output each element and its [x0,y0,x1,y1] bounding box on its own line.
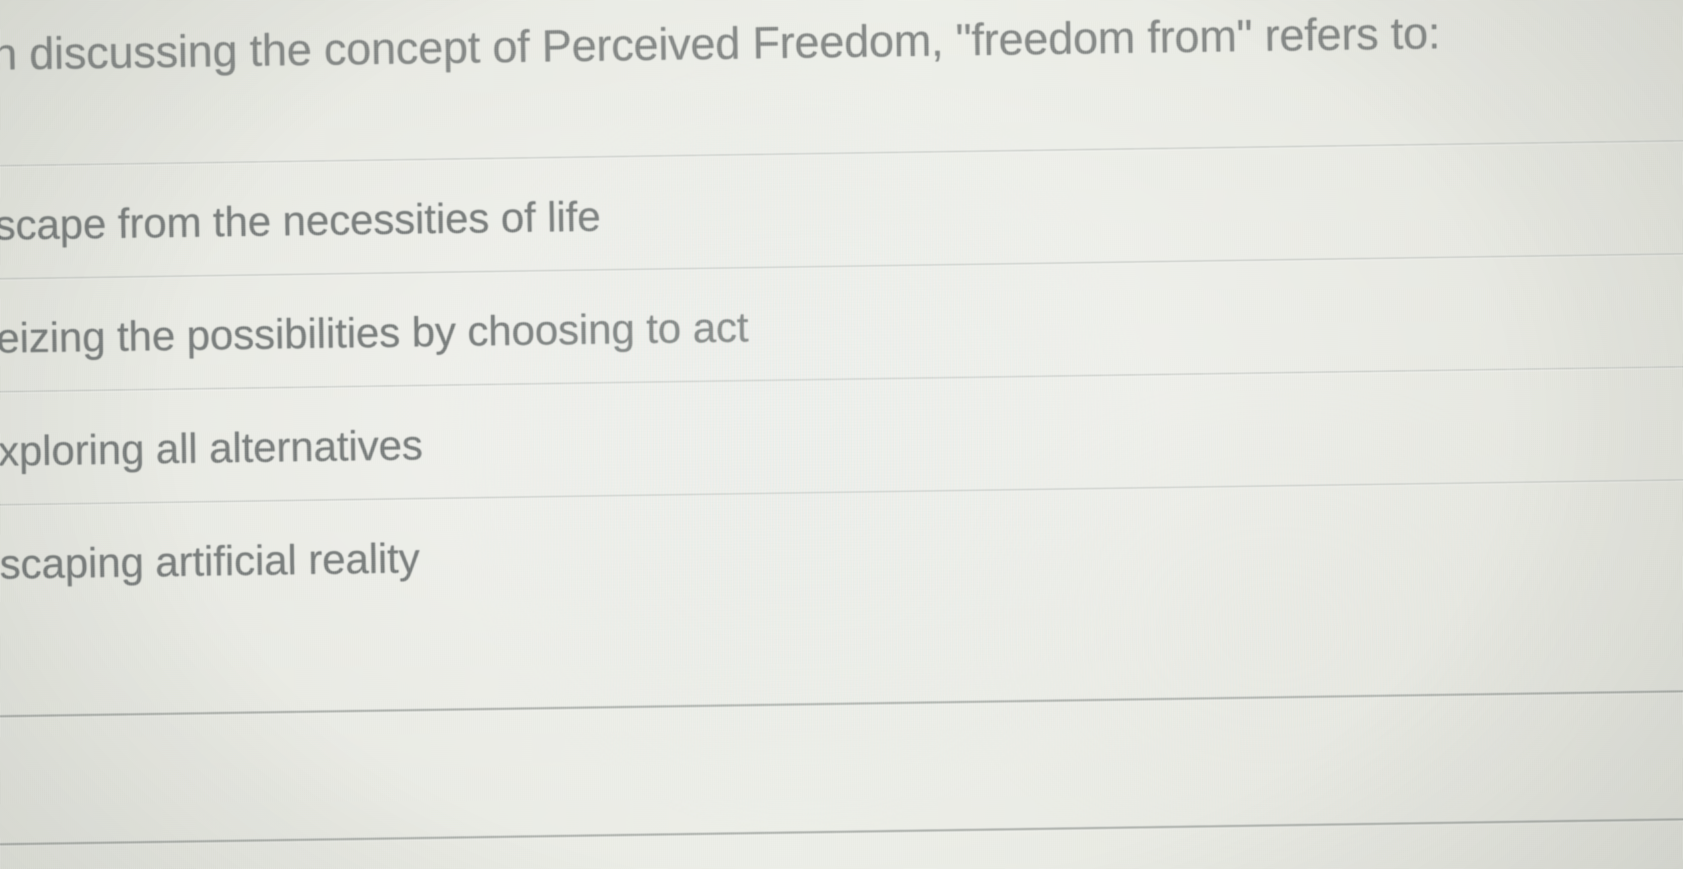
question-prompt: n discussing the concept of Perceived Fr… [0,7,1441,80]
screen-surface: n discussing the concept of Perceived Fr… [0,0,1683,869]
answer-option-1-label: scape from the necessities of life [0,192,601,249]
answer-option-4-label: scaping artificial reality [0,534,420,588]
answer-option-3-label: xploring all alternatives [0,421,423,475]
question-row: n discussing the concept of Perceived Fr… [0,0,1683,103]
quiz-content: n discussing the concept of Perceived Fr… [0,0,1683,869]
screen-photo: n discussing the concept of Perceived Fr… [0,0,1683,869]
answer-option-2-label: eizing the possibilities by choosing to … [0,303,749,362]
